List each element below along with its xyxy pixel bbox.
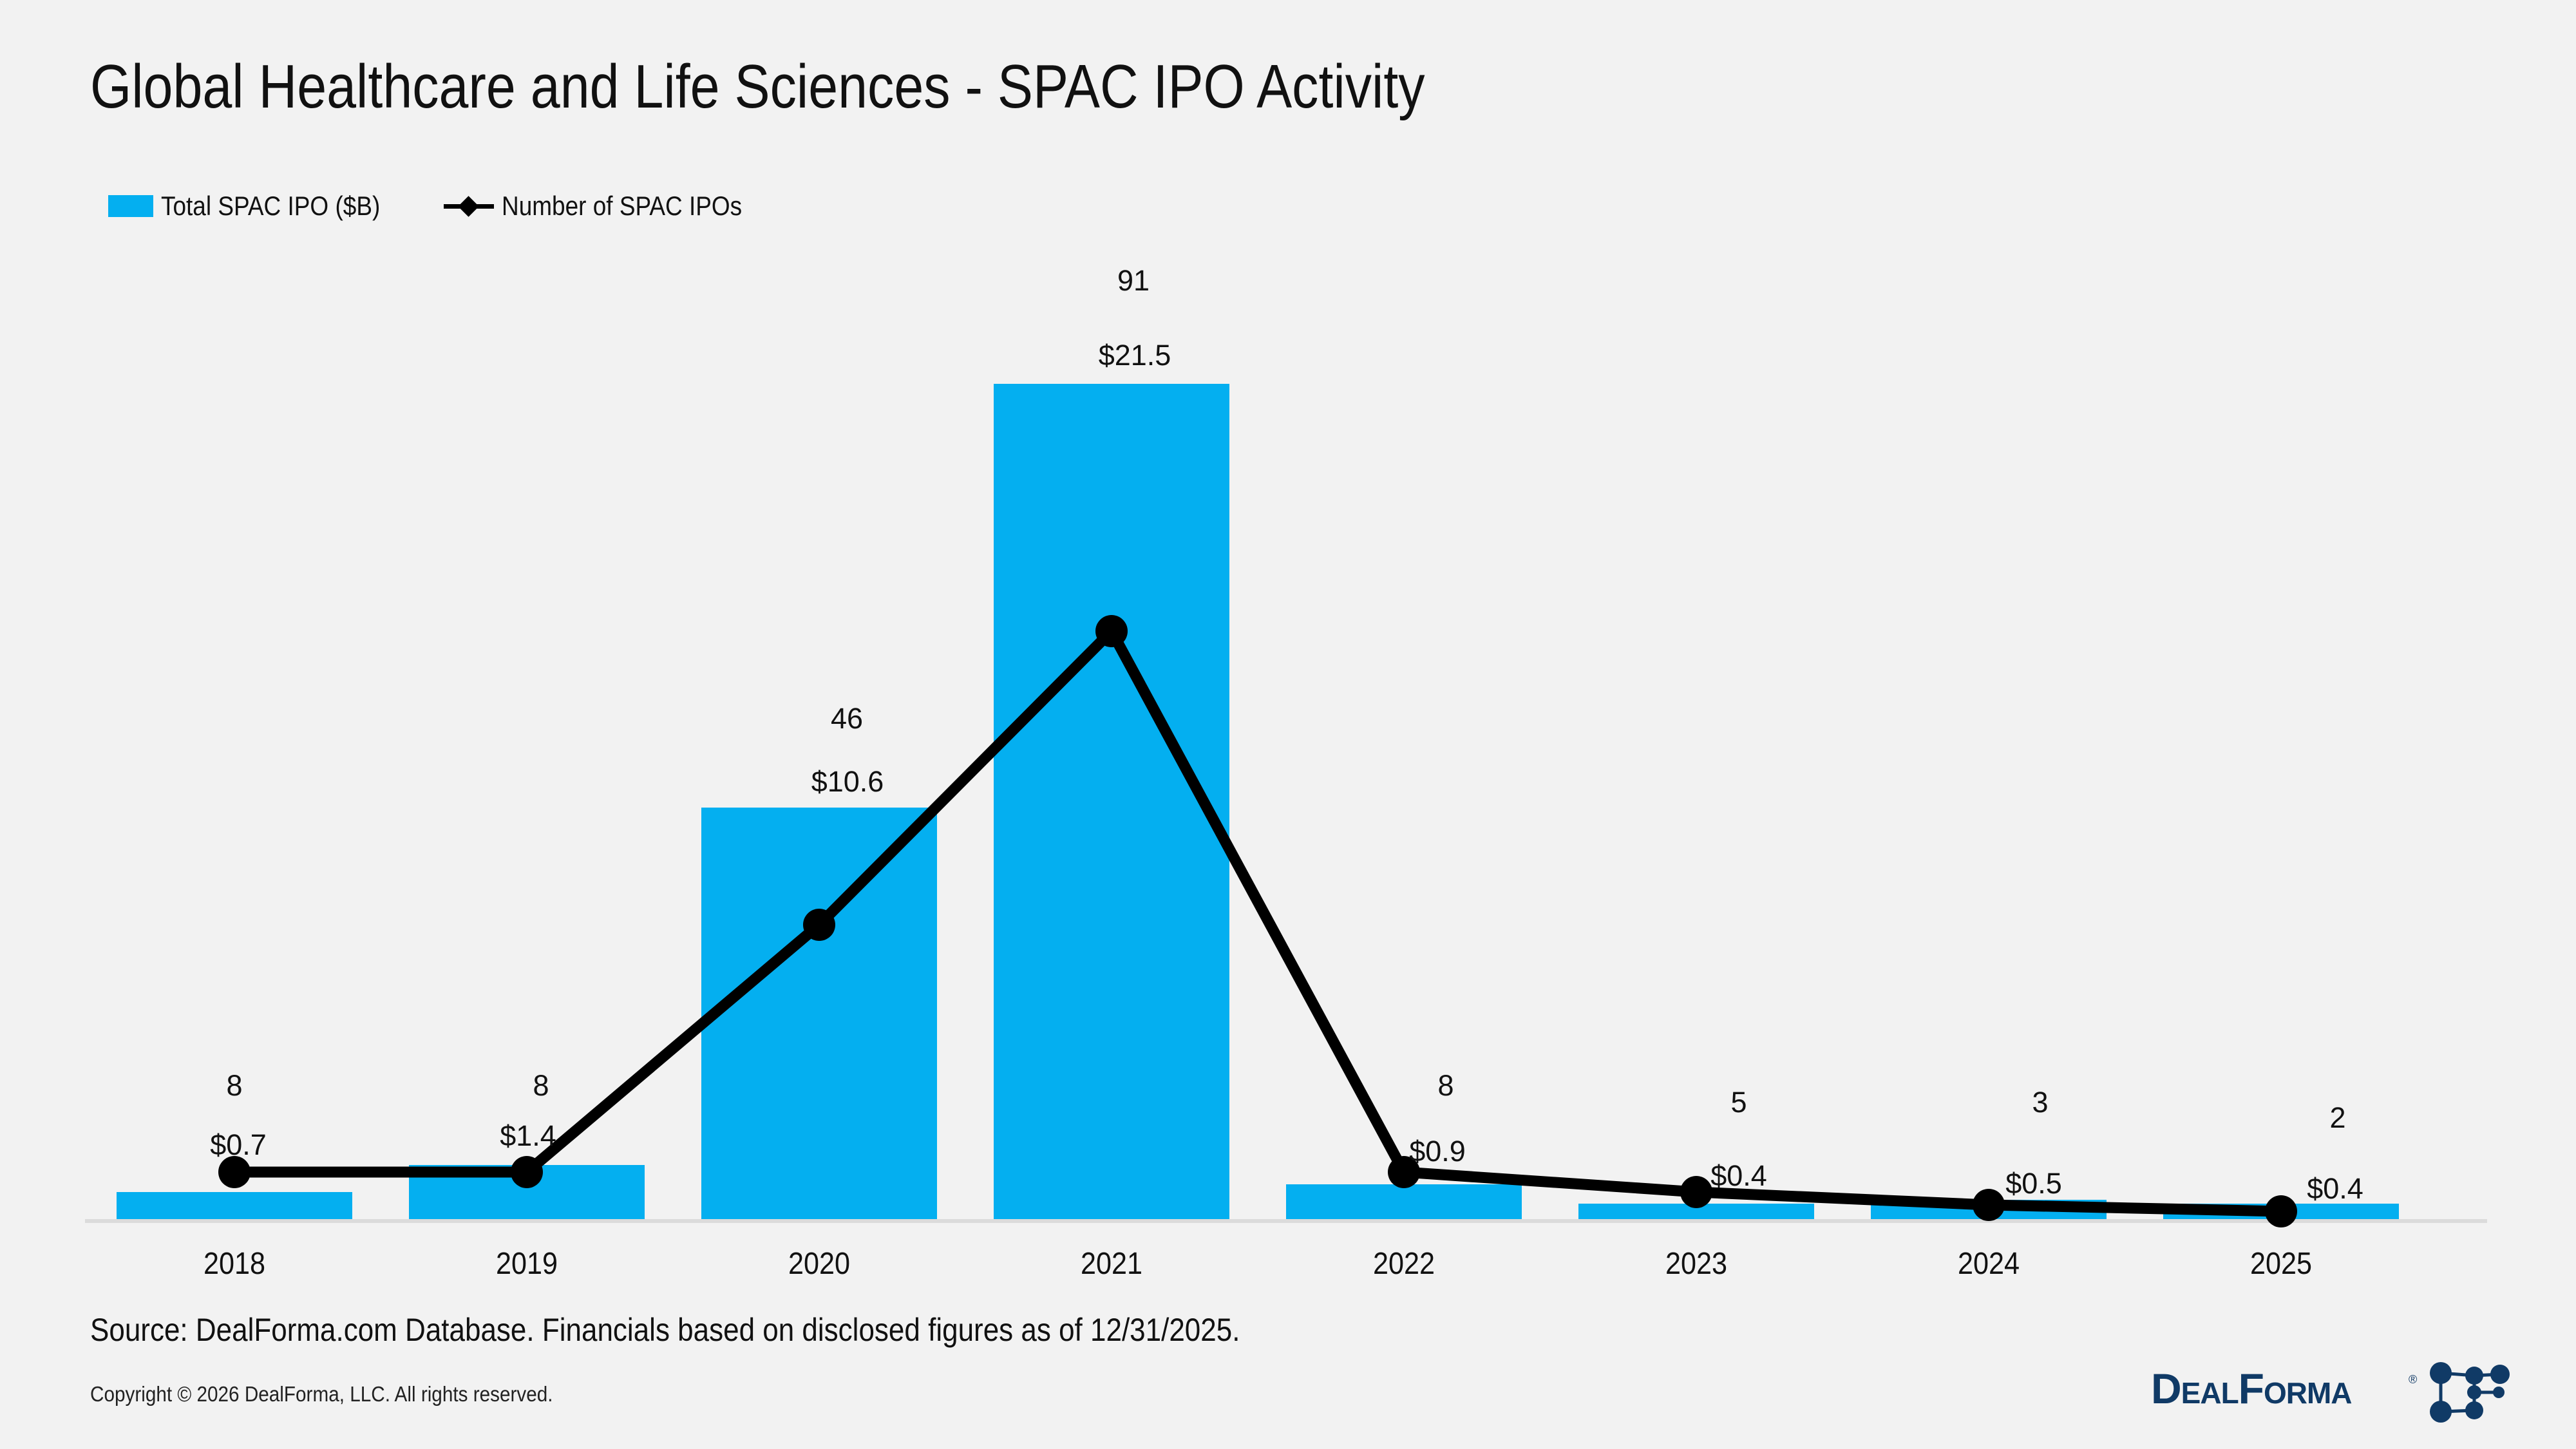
bar-2022[interactable]: [1286, 1184, 1522, 1219]
x-tick-2019: 2019: [496, 1246, 558, 1282]
bar-2021[interactable]: [994, 384, 1229, 1219]
value-label-2025: $0.4: [2307, 1172, 2363, 1206]
bar-2020[interactable]: [701, 808, 937, 1219]
bar-2023[interactable]: [1578, 1204, 1814, 1219]
logo-registered-mark: ®: [2409, 1373, 2417, 1387]
count-label-2025: 2: [2329, 1101, 2345, 1135]
value-label-2024: $0.5: [2005, 1167, 2062, 1200]
ipo-count-line-series: [0, 0, 2576, 1449]
count-label-2019: 8: [533, 1069, 549, 1103]
bar-2018[interactable]: [117, 1192, 352, 1219]
bar-2025[interactable]: [2163, 1204, 2399, 1219]
dealforma-logo[interactable]: DealForma ®: [2151, 1356, 2512, 1428]
x-tick-2020: 2020: [788, 1246, 850, 1282]
bar-2024[interactable]: [1871, 1200, 2107, 1219]
value-label-2022: $0.9: [1409, 1135, 1466, 1168]
x-tick-2021: 2021: [1081, 1246, 1142, 1282]
source-note: Source: DealForma.com Database. Financia…: [90, 1311, 1240, 1349]
x-tick-2018: 2018: [204, 1246, 265, 1282]
value-label-2020: $10.6: [811, 765, 884, 799]
x-tick-2023: 2023: [1665, 1246, 1727, 1282]
logo-wordmark: DealForma: [2151, 1364, 2352, 1413]
plot-area: 8 8 46 91 8 5 3 2 $0.7 $1.4 $10.6 $21.5 …: [0, 0, 2576, 1449]
logo-network-icon: [2427, 1356, 2512, 1428]
x-tick-2025: 2025: [2250, 1246, 2312, 1282]
copyright-note: Copyright © 2026 DealForma, LLC. All rig…: [90, 1382, 553, 1406]
x-axis-line: [85, 1219, 2487, 1223]
count-label-2024: 3: [2032, 1086, 2048, 1119]
chart-canvas: Global Healthcare and Life Sciences - SP…: [0, 0, 2576, 1449]
count-label-2021: 91: [1117, 264, 1150, 298]
value-label-2018: $0.7: [210, 1128, 267, 1162]
count-label-2018: 8: [226, 1069, 242, 1103]
x-tick-2024: 2024: [1958, 1246, 2020, 1282]
count-label-2020: 46: [831, 702, 863, 735]
value-label-2023: $0.4: [1710, 1159, 1767, 1193]
count-label-2023: 5: [1730, 1086, 1747, 1119]
value-label-2019: $1.4: [500, 1119, 556, 1153]
x-tick-2022: 2022: [1373, 1246, 1435, 1282]
value-label-2021: $21.5: [1099, 339, 1171, 372]
count-label-2022: 8: [1437, 1069, 1454, 1103]
bar-2019[interactable]: [409, 1165, 645, 1219]
